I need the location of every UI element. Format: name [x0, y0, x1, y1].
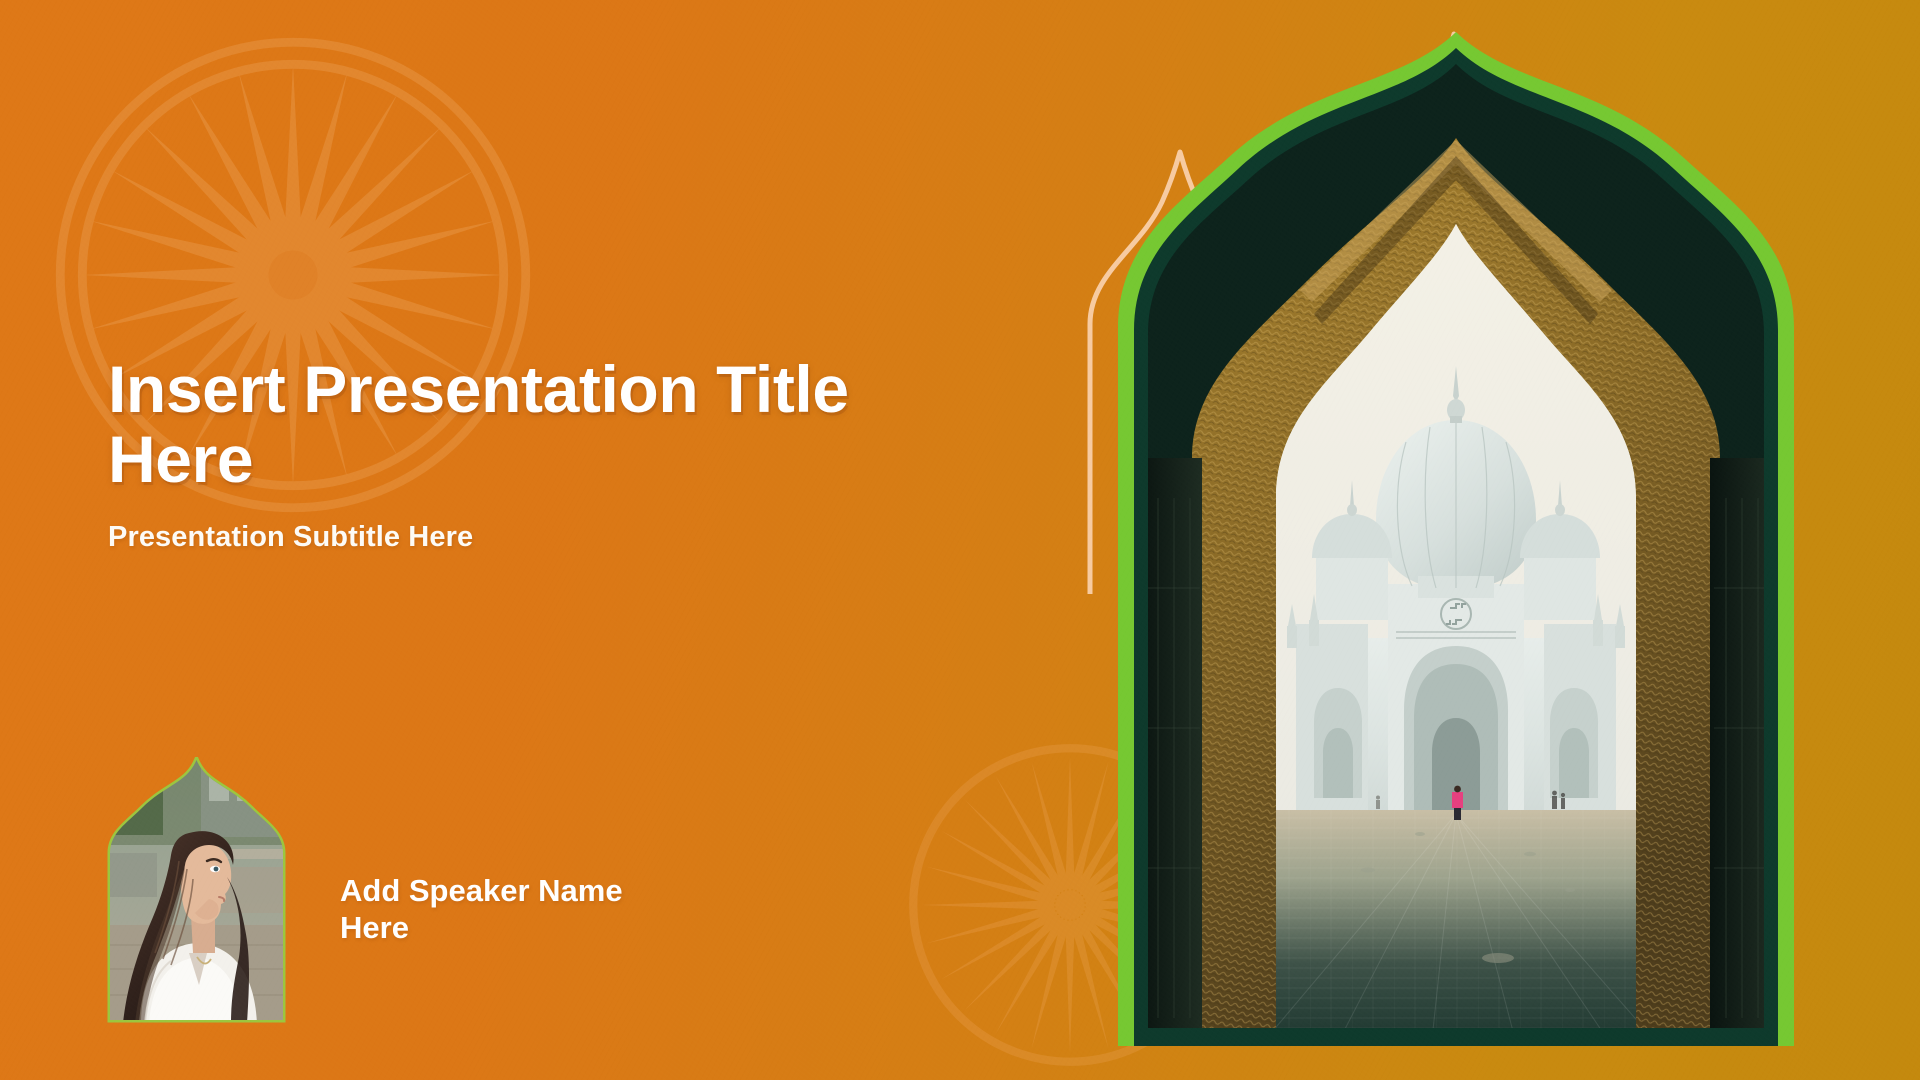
presentation-title-slide: Insert Presentation Title Here Presentat… — [0, 0, 1920, 1080]
speaker-photograph — [105, 757, 288, 1025]
speaker-avatar[interactable] — [105, 757, 288, 1025]
presentation-subtitle[interactable]: Presentation Subtitle Here — [108, 521, 938, 554]
speaker-row: Add Speaker Name Here — [105, 748, 805, 1033]
main-image-arch-frame — [1100, 28, 1812, 1046]
main-photograph — [1140, 48, 1774, 1046]
page-title[interactable]: Insert Presentation Title Here — [108, 355, 938, 495]
speaker-name[interactable]: Add Speaker Name Here — [340, 873, 623, 946]
title-block: Insert Presentation Title Here Presentat… — [108, 355, 938, 554]
